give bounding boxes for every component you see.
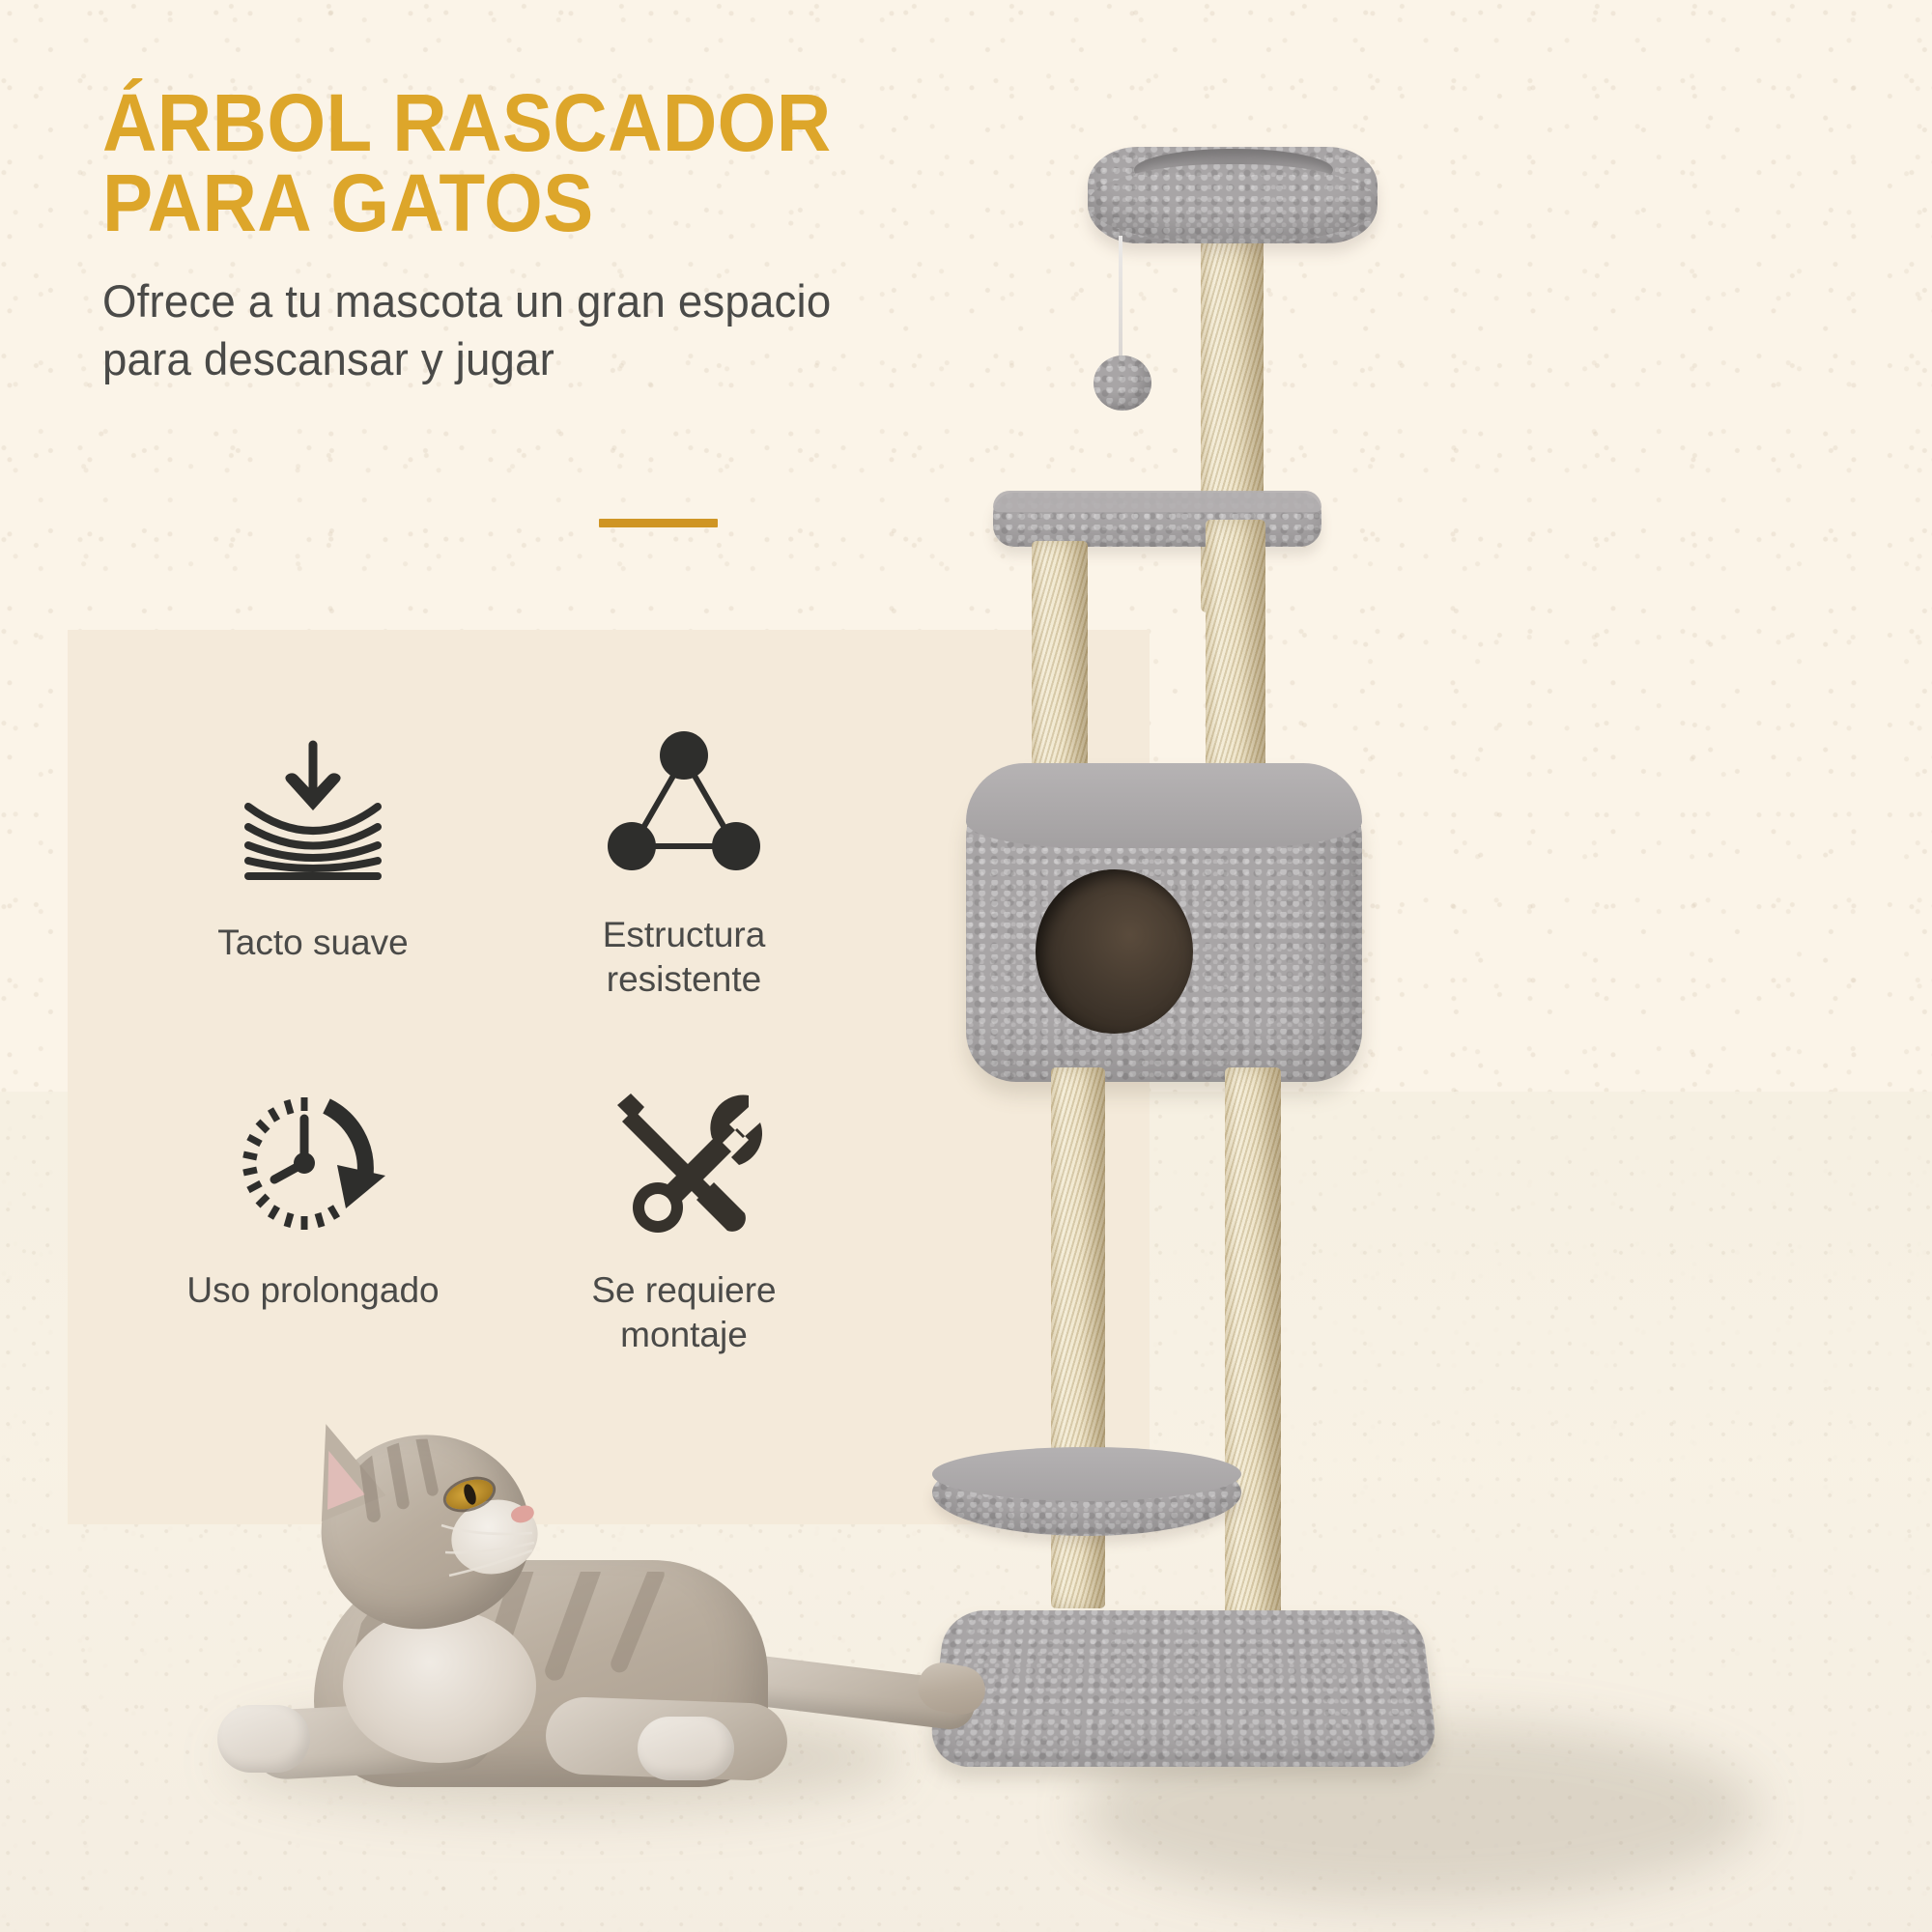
condo-top-face xyxy=(966,763,1362,848)
feature-item-label: Tacto suave xyxy=(149,921,477,965)
feature-label-line-1: Uso prolongado xyxy=(186,1270,439,1310)
cat-front-paw-right xyxy=(638,1717,734,1780)
page-title-line-1: ÁRBOL RASCADOR xyxy=(102,83,1046,163)
feature-item-uso-prolongado: Uso prolongado xyxy=(149,1074,477,1313)
cat-whiskers xyxy=(440,1508,623,1605)
lower-sisal-post-right xyxy=(1225,1067,1281,1647)
condo-sisal-post-left xyxy=(1032,541,1088,792)
cat-chest xyxy=(343,1608,536,1763)
feature-item-estructura-resistente: Estructura resistente xyxy=(520,719,848,1002)
toy-string xyxy=(1119,236,1122,361)
feature-item-label: Uso prolongado xyxy=(149,1268,477,1313)
page-subtitle: Ofrece a tu mascota un gran espacio para… xyxy=(102,272,1087,387)
soft-cushion-icon xyxy=(149,726,477,895)
condo-sisal-post-right xyxy=(1206,520,1265,800)
page-title-line-2: PARA GATOS xyxy=(102,163,1046,243)
cat-front-paw-left xyxy=(217,1705,310,1773)
condo-entrance-hole xyxy=(1036,869,1193,1034)
feature-label-line-2: resistente xyxy=(607,959,761,999)
feature-label-line-1: Se requiere xyxy=(591,1270,776,1310)
feature-item-se-requiere-montaje: Se requiere montaje xyxy=(520,1074,848,1357)
feature-label-line-1: Estructura xyxy=(603,915,766,954)
top-bed-rim-front xyxy=(1088,164,1378,243)
dangling-pom-pom-toy xyxy=(1094,355,1151,411)
middle-platform-top-face xyxy=(993,491,1321,512)
tabby-cat xyxy=(198,1415,961,1821)
header: ÁRBOL RASCADOR PARA GATOS Ofrece a tu ma… xyxy=(102,83,1117,388)
triangle-structure-icon xyxy=(520,719,848,888)
clock-arrow-icon xyxy=(149,1074,477,1243)
tools-icon xyxy=(520,1074,848,1243)
product-cat-tree xyxy=(1111,135,1884,1903)
feature-label-line-1: Tacto suave xyxy=(217,923,408,962)
page-subtitle-line-2: para descansar y jugar xyxy=(102,330,1087,388)
page-subtitle-line-1: Ofrece a tu mascota un gran espacio xyxy=(102,272,1087,330)
feature-item-tacto-suave: Tacto suave xyxy=(149,726,477,965)
accent-divider xyxy=(599,519,718,527)
page-title: ÁRBOL RASCADOR PARA GATOS xyxy=(102,83,1046,243)
square-base xyxy=(927,1610,1439,1767)
lower-oval-perch-top-face xyxy=(932,1447,1241,1501)
feature-item-label: Se requiere montaje xyxy=(520,1268,848,1357)
feature-item-label: Estructura resistente xyxy=(520,913,848,1002)
feature-label-line-2: montaje xyxy=(620,1315,748,1354)
feature-panel: Tacto suave Estructura resistente xyxy=(68,630,1150,1524)
